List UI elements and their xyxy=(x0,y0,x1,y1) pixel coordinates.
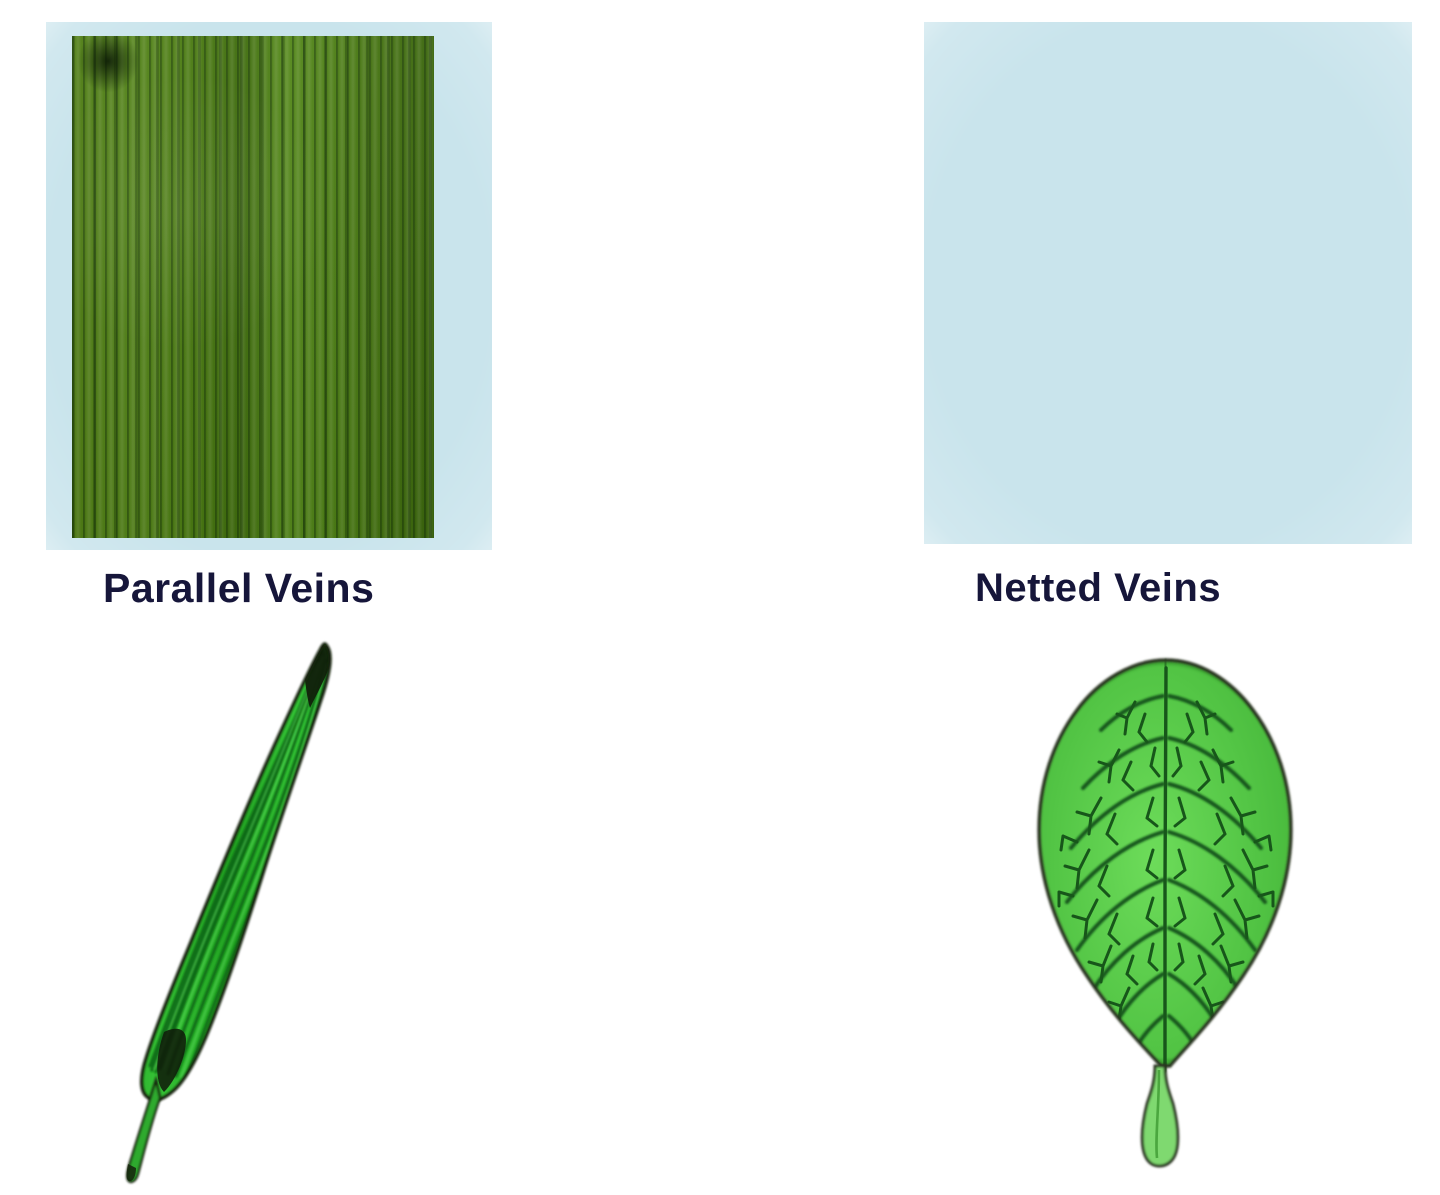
photo-background-netted xyxy=(924,22,1412,544)
netted-vein-leaf-illustration xyxy=(1015,638,1315,1190)
parallel-vein-leaf-illustration xyxy=(90,628,390,1188)
parallel-leaf-blade xyxy=(90,628,390,1188)
netted-leaf-midrib-core xyxy=(1165,668,1166,1066)
parallel-leaf-render xyxy=(90,628,390,1188)
grass-blade-soft-edge xyxy=(46,22,492,550)
netted-leaf-render xyxy=(1015,638,1315,1190)
grass-blade-photograph xyxy=(46,22,492,550)
caption-netted-veins: Netted Veins xyxy=(975,566,1221,611)
leaf-venation-figure: Parallel Veins Netted Veins xyxy=(0,0,1440,1195)
caption-parallel-veins: Parallel Veins xyxy=(103,565,374,612)
mint-leaf-photograph xyxy=(924,22,1412,544)
grass-blade-surface xyxy=(72,36,434,538)
